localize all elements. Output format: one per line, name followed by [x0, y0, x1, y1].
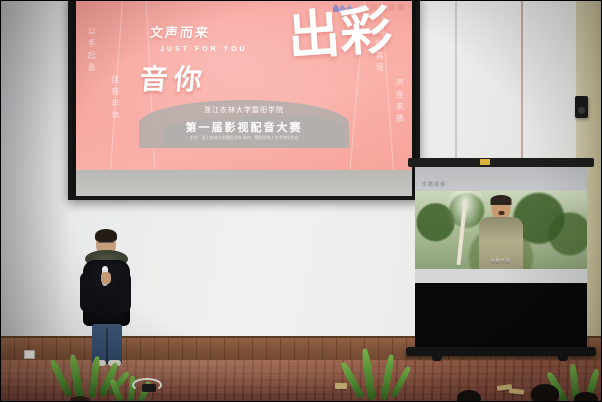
poster-vertical-text-left: 以手起墨: [86, 27, 97, 75]
poster-vertical-text-right2: 声音来袭: [394, 78, 405, 126]
video-person-hair: [491, 195, 512, 205]
glasses-icon: [98, 242, 114, 247]
poster-vertical-text-left2: 佳音年华: [110, 75, 121, 123]
poster-headline-accent: 出彩: [286, 7, 393, 64]
portable-screen-foot: [558, 354, 568, 361]
poster-title: 文声而来: [149, 22, 211, 41]
video-watermark: 优酷视频: [422, 181, 446, 188]
screen-clip-icon: [480, 159, 490, 165]
poster-event-name: 第一届影视配音大赛: [186, 119, 303, 135]
portable-roll-up-screen[interactable]: 优酷视频 电影片段: [408, 158, 594, 366]
presenter-hand: [101, 272, 111, 284]
screen-bottom-band: [76, 170, 412, 196]
poster-headline: 音你: [138, 58, 210, 98]
audience-head: [574, 392, 598, 402]
wall-shadow: [0, 0, 70, 362]
stage-plant: [62, 352, 118, 398]
presenter-arm-right: [117, 272, 131, 312]
floor-item: [335, 383, 347, 389]
speaker-lens-icon: [578, 107, 585, 114]
video-subtitle: 电影片段: [491, 258, 511, 264]
presenter-hair: [95, 229, 117, 242]
floor-device: [142, 384, 156, 392]
wall-outlet: [24, 350, 35, 359]
ceiling-speaker-icon: [575, 96, 588, 118]
poster-image: 网络直播 以手起墨 佳音年华 声临其境 声音来袭 文声而来 JUST FOR Y…: [76, 0, 412, 170]
portable-screen-lower-body: [415, 283, 587, 351]
portable-screen-foot: [432, 354, 442, 361]
portable-screen-surface: 优酷视频 电影片段: [415, 167, 587, 283]
stage-plant: [352, 344, 408, 400]
video-frame: 电影片段: [415, 191, 587, 269]
portable-screen-top-bar: [408, 158, 594, 167]
poster-credits: 主办：浙江农林大学暨阳学院 承办：暨阳学院人文学院学生会: [189, 135, 298, 141]
audience-head: [531, 384, 559, 402]
presenter-with-microphone[interactable]: [76, 232, 138, 366]
audience-head: [457, 390, 481, 402]
poster-organization: 浙江农林大学暨阳学院: [204, 105, 284, 115]
audience-head: [70, 396, 90, 402]
main-projection-screen[interactable]: 网络直播 以手起墨 佳音年华 声临其境 声音来袭 文声而来 JUST FOR Y…: [68, 0, 420, 200]
auditorium-scene: 网络直播 以手起墨 佳音年华 声临其境 声音来袭 文声而来 JUST FOR Y…: [0, 0, 602, 402]
video-person-mouth: [498, 211, 504, 215]
poster-subtitle-en: JUST FOR YOU: [160, 46, 248, 53]
presenter-arm-left: [80, 272, 94, 312]
